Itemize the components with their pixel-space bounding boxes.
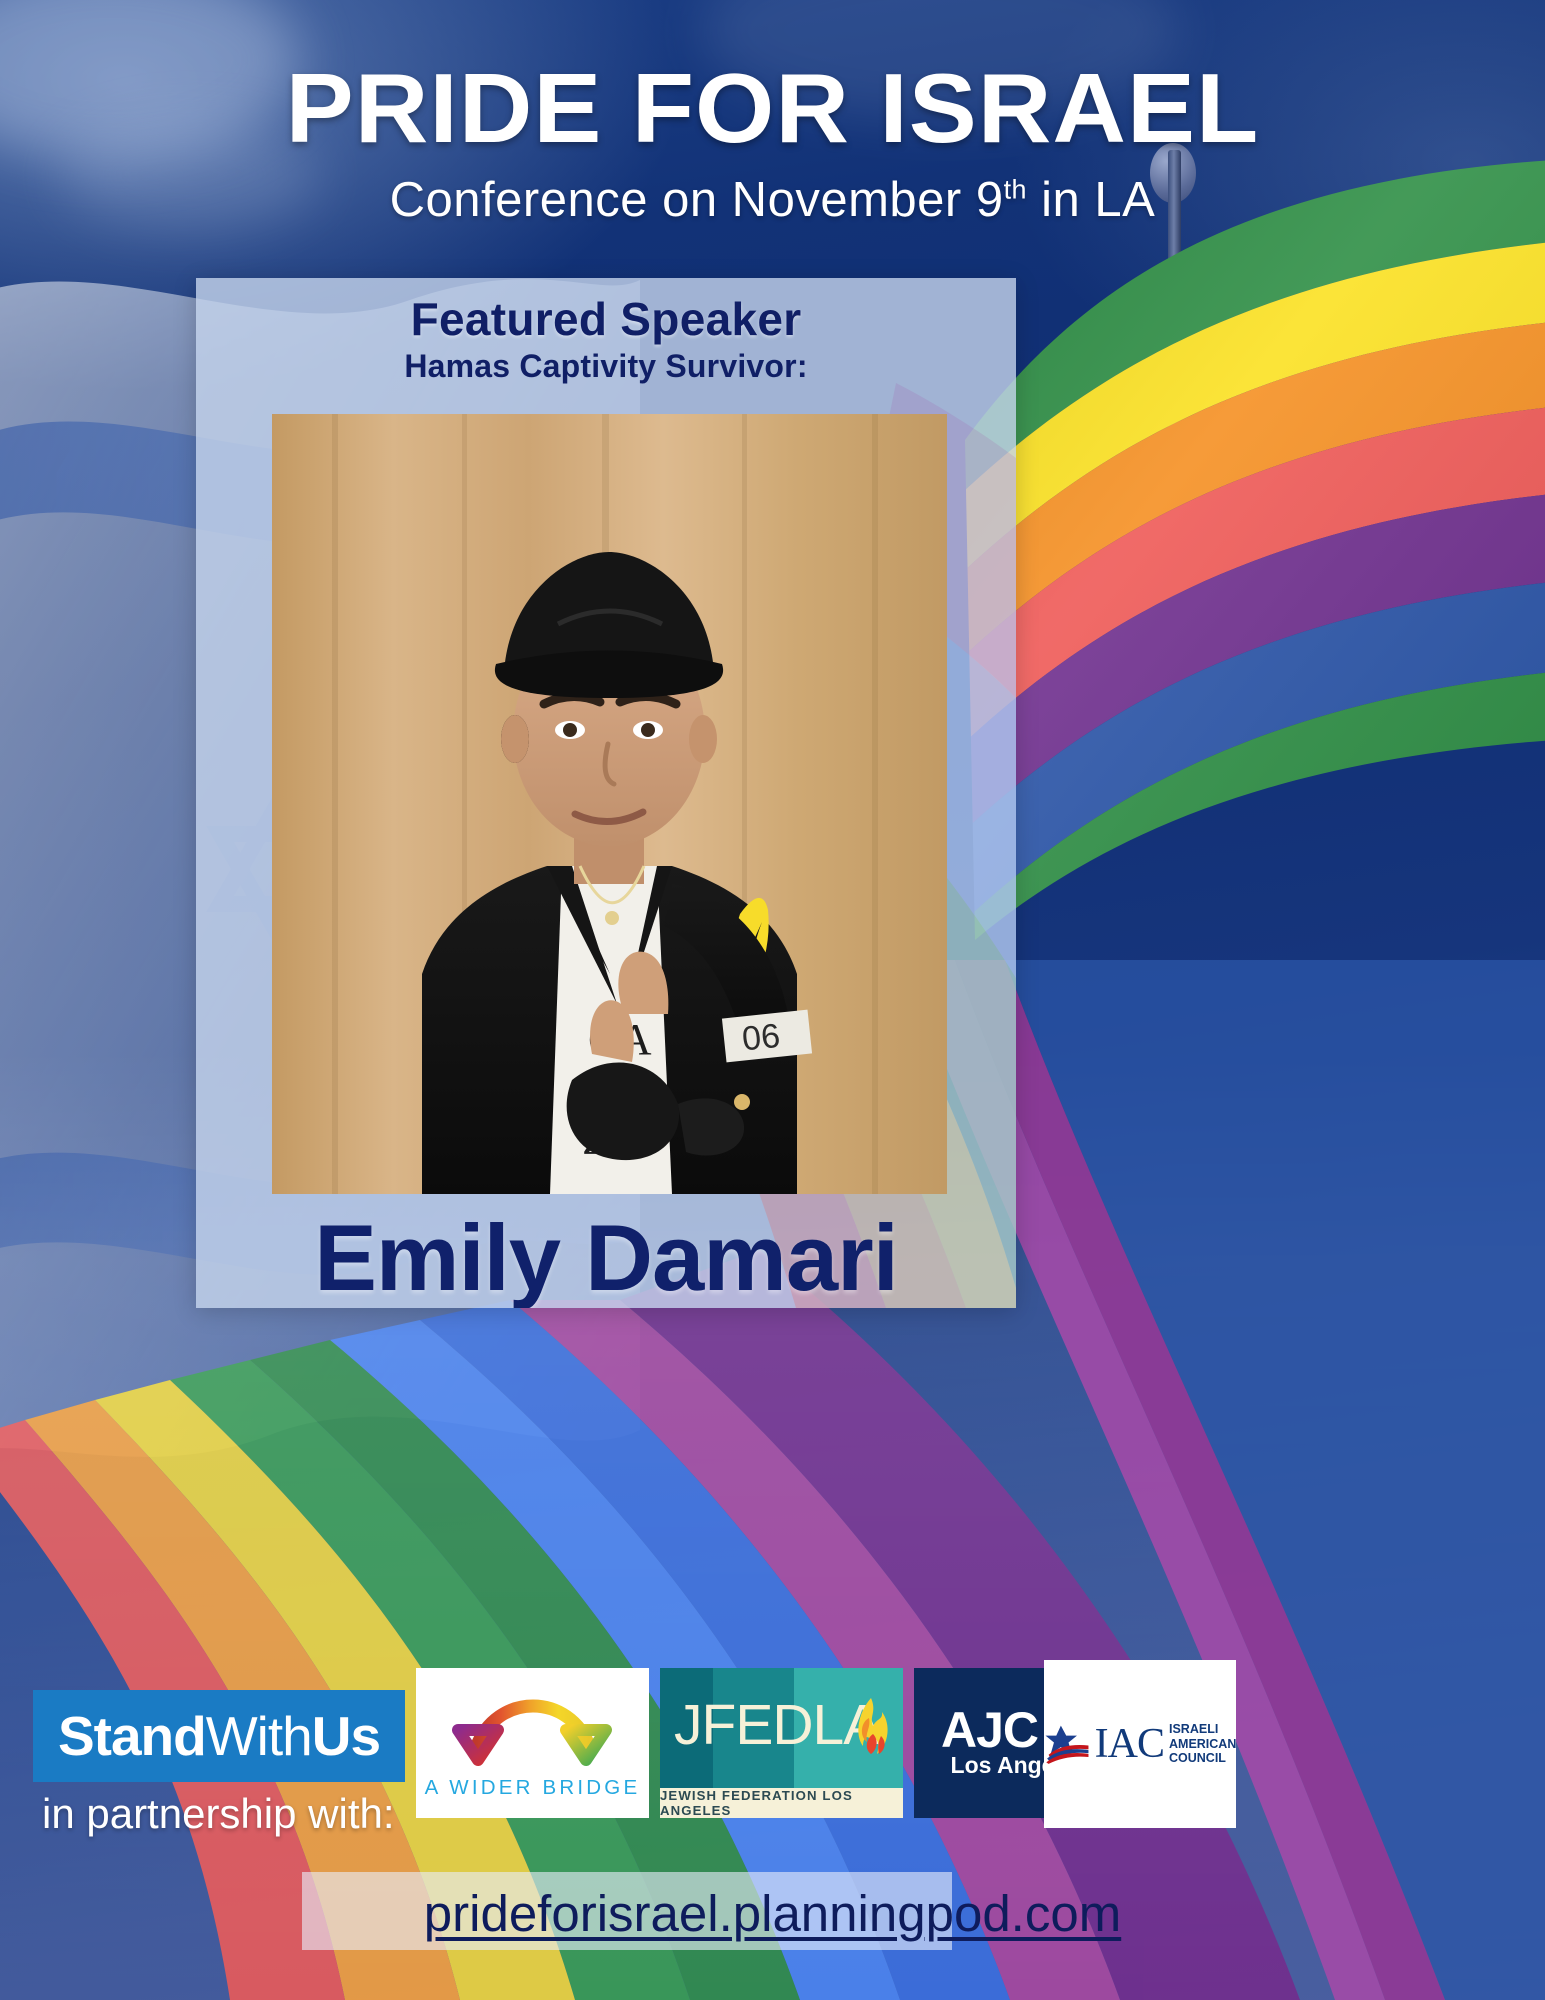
- swu-part-with: With: [206, 1705, 312, 1767]
- svg-text:06: 06: [740, 1017, 782, 1059]
- iac-subtitle-line-1: ISRAELI: [1169, 1722, 1236, 1736]
- logo-a-wider-bridge[interactable]: A WIDER BRIDGE: [416, 1668, 649, 1818]
- subtitle-prefix: Conference on November 9: [390, 173, 1004, 227]
- registration-url[interactable]: prideforisrael.planningpod.com: [0, 1884, 1545, 1943]
- speaker-photo: GA & ZIV: [272, 414, 947, 1194]
- card-content: Featured Speaker Hamas Captivity Survivo…: [196, 292, 1016, 385]
- speaker-portrait-graphic: GA & ZIV: [272, 414, 947, 1194]
- wider-bridge-wordmark: A WIDER BRIDGE: [425, 1776, 641, 1800]
- subtitle-ordinal: th: [1004, 175, 1027, 205]
- wider-bridge-icon: [438, 1686, 628, 1774]
- featured-speaker-card: Featured Speaker Hamas Captivity Survivo…: [196, 278, 1016, 1308]
- subtitle-suffix: in LA: [1027, 173, 1155, 227]
- iac-wordmark: IAC: [1095, 1720, 1164, 1768]
- ajc-wordmark: AJC: [941, 1707, 1038, 1755]
- survivor-label: Hamas Captivity Survivor:: [196, 348, 1016, 385]
- logo-standwithus[interactable]: StandWithUs: [33, 1690, 405, 1782]
- jfedla-subtitle: JEWISH FEDERATION LOS ANGELES: [660, 1788, 903, 1818]
- logo-jfedla[interactable]: JFEDLA JEWISH FEDERATION LOS ANGELES: [660, 1668, 903, 1818]
- iac-star-icon: [1044, 1724, 1090, 1764]
- swu-part-stand: Stand: [58, 1705, 206, 1767]
- partnership-label: in partnership with:: [42, 1790, 395, 1838]
- flame-icon: [849, 1696, 893, 1758]
- iac-subtitle-line-3: COUNCIL: [1169, 1751, 1236, 1765]
- speaker-name: Emily Damari: [196, 1204, 1016, 1308]
- swu-part-us: Us: [312, 1705, 380, 1767]
- iac-subtitle-line-2: AMERICAN: [1169, 1737, 1236, 1751]
- standwithus-wordmark: StandWithUs: [58, 1704, 380, 1768]
- partner-logo-row: StandWithUs in partnership with:: [0, 1648, 1545, 1838]
- iac-subtitle: ISRAELI AMERICAN COUNCIL: [1169, 1722, 1236, 1765]
- conference-subtitle: Conference on November 9th in LA: [0, 172, 1545, 228]
- featured-speaker-label: Featured Speaker: [196, 292, 1016, 346]
- page-title: PRIDE FOR ISRAEL: [0, 52, 1545, 165]
- poster-canvas: PRIDE FOR ISRAEL Conference on November …: [0, 0, 1545, 2000]
- logo-iac[interactable]: IAC ISRAELI AMERICAN COUNCIL: [1044, 1660, 1236, 1828]
- pride-flag-graphic: [935, 140, 1545, 940]
